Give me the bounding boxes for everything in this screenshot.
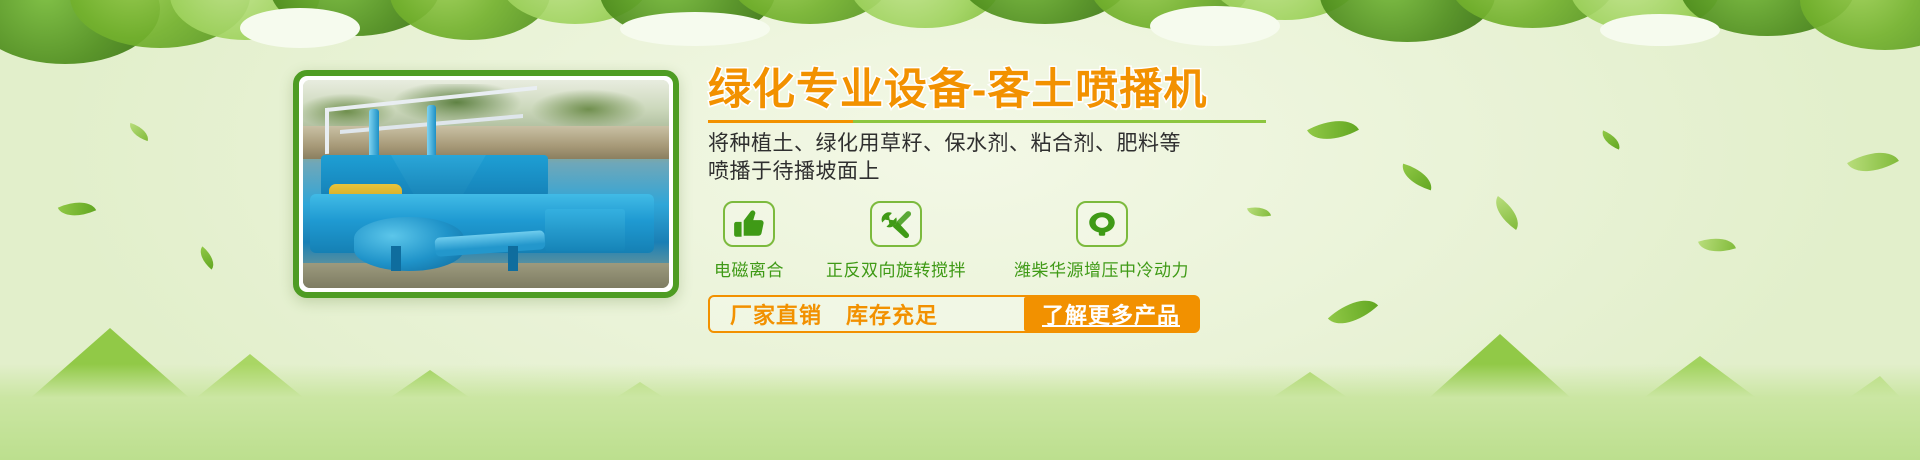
- feature-list: 电磁离合 正反双向旋转搅拌 潍柴华源增压中冷动力: [708, 201, 1408, 281]
- feature-label: 潍柴华源增压中冷动力: [1014, 256, 1189, 281]
- cta-bar: 厂家直销 库存充足 了解更多产品: [708, 295, 1200, 333]
- product-photo-frame: [293, 70, 679, 298]
- banner-content: 绿化专业设备-客土喷播机 将种植土、绿化用草籽、保水剂、粘合剂、肥料等 喷播于待…: [708, 68, 1408, 333]
- feature-label: 正反双向旋转搅拌: [826, 256, 966, 281]
- wrench-screwdriver-icon: [870, 201, 922, 247]
- feature-item-engine-power: 潍柴华源增压中冷动力: [1014, 201, 1189, 281]
- thumbs-up-icon: [723, 201, 775, 247]
- feature-item-bidirectional-mixing: 正反双向旋转搅拌: [826, 201, 966, 281]
- title-divider: [708, 120, 1266, 123]
- engine-gear-icon: [1076, 201, 1128, 247]
- cta-tag-in-stock: 库存充足: [846, 298, 938, 330]
- subtitle-line-1: 将种植土、绿化用草籽、保水剂、粘合剂、肥料等: [708, 130, 1408, 158]
- page-title: 绿化专业设备-客土喷播机: [708, 68, 1408, 113]
- subtitle: 将种植土、绿化用草籽、保水剂、粘合剂、肥料等 喷播于待播坡面上: [708, 130, 1408, 187]
- cta-tag-factory-direct: 厂家直销: [730, 298, 822, 330]
- promo-banner: 绿化专业设备-客土喷播机 将种植土、绿化用草籽、保水剂、粘合剂、肥料等 喷播于待…: [0, 0, 1920, 460]
- feature-item-electromagnetic-clutch: 电磁离合: [714, 201, 784, 281]
- feature-label: 电磁离合: [714, 256, 784, 281]
- product-photo: [303, 80, 669, 288]
- cta-tags: 厂家直销 库存充足: [710, 298, 958, 330]
- subtitle-line-2: 喷播于待播坡面上: [708, 158, 1408, 186]
- learn-more-button[interactable]: 了解更多产品: [1024, 297, 1198, 331]
